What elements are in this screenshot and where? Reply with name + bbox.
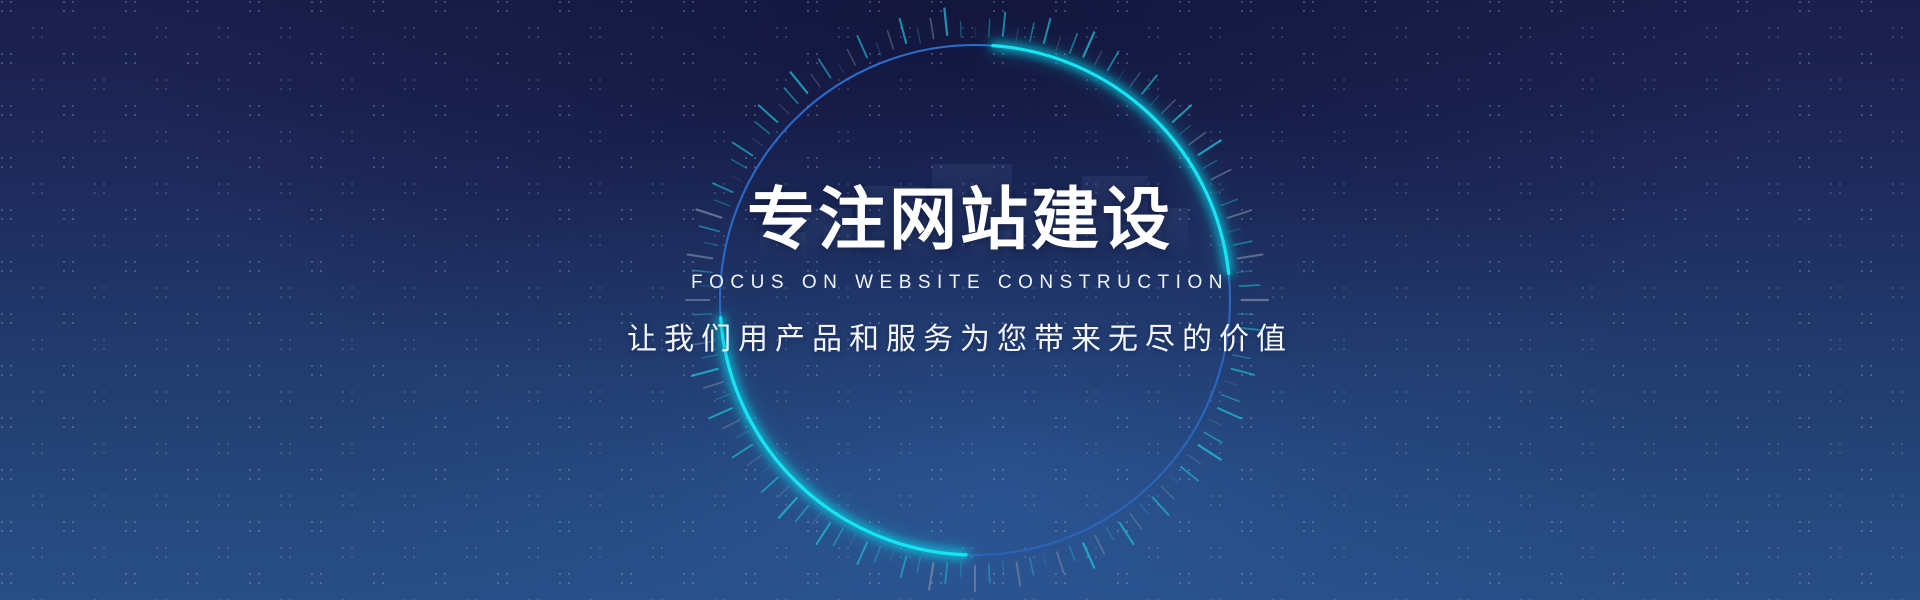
ring-tick (1002, 561, 1003, 573)
ring-tick (1214, 189, 1224, 193)
ring-tick (857, 36, 867, 57)
ring-tick (1234, 341, 1245, 343)
ring-tick (1056, 37, 1060, 50)
accent-arc-top-right-glow (993, 46, 1229, 274)
ring-tick (917, 29, 920, 43)
ring-tick (1204, 432, 1222, 442)
skyline-building (760, 232, 806, 260)
ring-tick (1189, 132, 1205, 144)
ring-tick (1238, 254, 1263, 258)
ring-tick (1225, 381, 1237, 385)
ring-tick (874, 546, 880, 562)
ring-tick (1162, 100, 1175, 113)
ring-tick (1069, 546, 1075, 561)
ring-tick (819, 59, 831, 77)
ring-tick (850, 534, 856, 545)
ring-tick (716, 394, 729, 399)
ring-tick (733, 445, 753, 458)
skyline-building (1120, 224, 1162, 260)
ring-tick (989, 564, 990, 583)
ring-tick (989, 19, 990, 36)
ring-tick (796, 506, 809, 522)
ring-tick (737, 431, 748, 437)
ring-tick (888, 31, 894, 49)
ring-tick (779, 104, 789, 114)
ring-tick (704, 327, 715, 328)
ring-tick (1199, 445, 1221, 459)
ring-tick (688, 254, 713, 258)
ring-tick (834, 529, 843, 545)
dot-pattern-overlay (0, 0, 1920, 600)
ring-tick (1142, 75, 1157, 93)
ring-tick (930, 19, 933, 39)
ring-tick (791, 72, 808, 93)
ring-tick (1130, 514, 1141, 529)
accent-arc-bottom-left-glow (721, 318, 966, 555)
ring-tick (812, 513, 820, 524)
skyline-building (932, 164, 1012, 260)
ring-tick (1030, 23, 1034, 41)
ring-tick (1151, 96, 1159, 105)
ring-tick (1070, 34, 1077, 53)
ring-tick (1179, 126, 1190, 135)
ring-tick (713, 183, 733, 192)
hero-copy: 专注网站建设 FOCUS ON WEBSITE CONSTRUCTION 让我们… (0, 186, 1920, 358)
ring-tick (1211, 170, 1230, 180)
accent-arc-top-right (993, 46, 1229, 274)
ring-tick (1043, 553, 1046, 564)
ring-tick (1199, 140, 1221, 154)
ring-tick (900, 19, 906, 43)
ring-tick (817, 523, 831, 544)
ring-tick (732, 160, 747, 169)
skyline-building (894, 220, 938, 260)
ring-tick (1153, 497, 1169, 514)
ring-tick-marks (686, 9, 1268, 591)
ring-tick (700, 286, 713, 287)
accent-arc-bottom-left (721, 318, 966, 555)
ring-tick (733, 143, 753, 156)
ring-tick (917, 558, 920, 573)
skyline-building (1006, 198, 1064, 260)
ring-tick (1173, 105, 1192, 122)
ring-tick (694, 270, 713, 272)
skyline-building (1158, 208, 1188, 260)
skyline-building (824, 226, 862, 260)
ring-tick (1108, 51, 1119, 70)
ring-tick (778, 486, 789, 497)
ring-tick (1120, 523, 1134, 544)
ring-tick (1016, 28, 1018, 40)
ring-tick (1238, 314, 1254, 315)
ring-tick (763, 465, 772, 472)
page-title: 专注网站建设 (0, 186, 1920, 254)
ring-tick (715, 200, 730, 206)
ring-tick (901, 556, 907, 577)
ring-tick (857, 543, 867, 564)
ring-tick (1030, 558, 1034, 575)
skyline-building (972, 230, 1012, 260)
ring-tick (1209, 419, 1222, 425)
ring-tick (753, 138, 763, 145)
ring-tick (700, 226, 720, 231)
skyline-building (790, 208, 852, 260)
ring-tick (1106, 528, 1113, 540)
ring-tick (709, 408, 732, 418)
ring-tick (1162, 487, 1174, 499)
ring-tick (732, 176, 742, 181)
ring-tick (876, 43, 880, 55)
ring-tick (692, 369, 718, 376)
ring-tick (704, 242, 718, 245)
ring-tick (960, 21, 961, 37)
ring-tick (1181, 467, 1198, 481)
ring-tick (839, 64, 845, 74)
ring-tick (1118, 71, 1124, 80)
background-glow (0, 0, 1920, 600)
skyline-building (1082, 176, 1148, 260)
ring-tick (1218, 408, 1241, 418)
city-skyline-silhouette (760, 150, 1190, 260)
ring-tick (723, 420, 740, 428)
dot-pattern-overlay-alt (0, 0, 1920, 600)
ring-base-circle (720, 45, 1230, 555)
ring-tick (811, 74, 820, 87)
ring-tick (1239, 328, 1261, 330)
ring-tick (1140, 504, 1148, 514)
ring-tick (1057, 552, 1064, 573)
ring-tick (1203, 161, 1217, 169)
ring-tick (1044, 19, 1050, 43)
ring-tick (696, 209, 721, 217)
ring-tick (702, 355, 717, 358)
ring-tick (762, 477, 778, 492)
ring-tick (704, 382, 723, 388)
ring-tick (779, 498, 797, 518)
ring-tick (1095, 536, 1104, 554)
ring-tick (945, 563, 947, 583)
ring-tick (1222, 395, 1239, 402)
ring-tick (1221, 199, 1237, 205)
ring-tick (1233, 355, 1250, 359)
ring-tick (784, 88, 798, 103)
ring-tick (1170, 475, 1178, 482)
ring-accent-arcs (721, 46, 1229, 555)
ring-tick (929, 563, 933, 589)
ring-tick (944, 9, 947, 35)
ring-tick (891, 549, 894, 559)
ring-tick (1083, 32, 1094, 56)
ring-tick (755, 122, 770, 134)
ring-tick (847, 50, 855, 65)
page-subtitle-en: FOCUS ON WEBSITE CONSTRUCTION (0, 272, 1920, 294)
ring-tick (694, 314, 711, 315)
ring-tick (1228, 211, 1250, 218)
skyline-building (1050, 216, 1086, 260)
hero-banner: 专注网站建设 FOCUS ON WEBSITE CONSTRUCTION 让我们… (0, 0, 1920, 600)
page-tagline-cn: 让我们用产品和服务为您带来无尽的价值 (0, 314, 1920, 358)
ring-tick (1236, 271, 1250, 272)
ring-tick (692, 341, 714, 344)
ring-tick (1083, 544, 1094, 568)
ring-tick (1130, 73, 1140, 87)
ring-tick (1188, 455, 1201, 464)
ring-tick (1095, 51, 1102, 65)
skyline-building (856, 186, 926, 260)
ring-tick (1239, 285, 1259, 286)
ring-tick (1003, 13, 1005, 36)
ring-tick (748, 455, 762, 465)
ring-tick (1234, 241, 1252, 245)
ring-tick (1017, 562, 1021, 585)
ring-tick (1232, 369, 1255, 375)
ring-tick (1229, 229, 1241, 232)
ring-tick (961, 563, 962, 577)
ring-tick (759, 105, 778, 122)
